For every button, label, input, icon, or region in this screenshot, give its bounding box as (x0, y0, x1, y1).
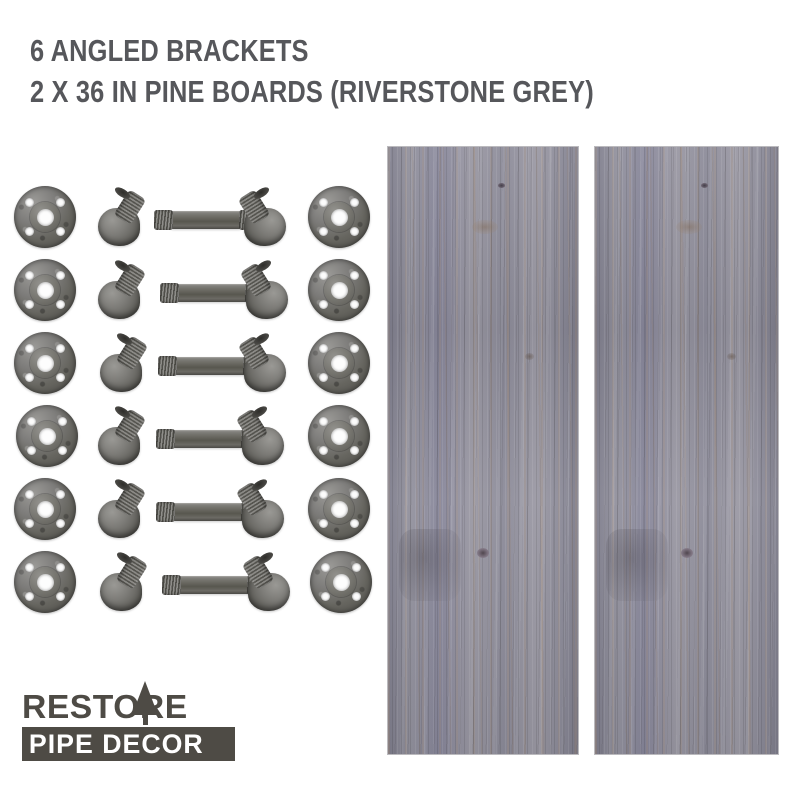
flange-bolt-hole (321, 563, 330, 572)
flange-part (308, 478, 370, 540)
flange-bolt-hole (56, 592, 65, 601)
flange-part (308, 259, 370, 321)
pine-tree-canopy (132, 681, 158, 715)
pine-tree-trunk (143, 712, 148, 725)
flange-part (14, 186, 76, 248)
nipple-thread-left (158, 356, 177, 376)
flange-bolt-hole (350, 446, 359, 455)
nipple-thread-left (156, 502, 175, 522)
flange-bore-hole (37, 574, 54, 591)
elbow-part-mirrored (232, 188, 294, 250)
logo-pipe-decor-text: PIPE DECOR (22, 727, 233, 761)
elbow-opening (256, 550, 275, 566)
flange-bolt-hole (321, 592, 330, 601)
flange-bolt-hole (25, 300, 34, 309)
headline-line-2: 2 X 36 IN PINE BOARDS (RIVERSTONE GREY) (30, 71, 637, 112)
flange-bolt-hole (25, 373, 34, 382)
flange-bolt-hole (58, 446, 67, 455)
elbow-part (90, 261, 152, 323)
bracket-row (14, 405, 370, 477)
flange-bolt-hole (350, 227, 359, 236)
wood-sheen (595, 147, 778, 754)
flange-bore-hole (37, 209, 54, 226)
flange-bolt-hole (319, 373, 328, 382)
flange-bolt-hole (25, 563, 34, 572)
flange-part (16, 405, 78, 467)
flange-bolt-hole (352, 563, 361, 572)
flange-bolt-hole (25, 198, 34, 207)
flange-part (14, 332, 76, 394)
elbow-part (90, 407, 152, 469)
wood-sheen (388, 147, 578, 754)
flange-bolt-hole (350, 344, 359, 353)
flange-bolt-hole (319, 198, 328, 207)
flange-bolt-hole (27, 446, 36, 455)
elbow-part-mirrored (232, 334, 294, 396)
bracket-row (14, 551, 370, 623)
elbow-opening (254, 258, 273, 274)
flange-bolt-hole (56, 490, 65, 499)
product-headline: 6 ANGLED BRACKETS 2 X 36 IN PINE BOARDS … (30, 30, 770, 112)
flange-bolt-hole (319, 300, 328, 309)
flange-bolt-hole (56, 519, 65, 528)
flange-bolt-hole (350, 373, 359, 382)
flange-part (310, 551, 372, 613)
flange-bolt-hole (25, 227, 34, 236)
flange-bolt-hole (56, 271, 65, 280)
elbow-part-mirrored (230, 407, 292, 469)
flange-bolt-hole (352, 592, 361, 601)
flange-bolt-hole (350, 490, 359, 499)
flange-bore-hole (37, 501, 54, 518)
flange-bolt-hole (27, 417, 36, 426)
logo-restore-wordmark: RESTORE (22, 690, 237, 726)
nipple-thread-left (154, 210, 173, 230)
elbow-part (90, 480, 152, 542)
flange-bolt-hole (319, 490, 328, 499)
elbow-opening (250, 404, 269, 420)
flange-bolt-hole (350, 198, 359, 207)
flange-bolt-hole (319, 271, 328, 280)
nipple-thread-left (156, 429, 175, 449)
bracket-row (14, 332, 370, 404)
flange-bore-hole (333, 574, 350, 591)
flange-part (14, 478, 76, 540)
flange-bore-hole (331, 282, 348, 299)
flange-bore-hole (37, 282, 54, 299)
logo-pipe-decor-bar: PIPE DECOR (22, 727, 235, 761)
pine-tree-icon (132, 681, 158, 725)
flange-bolt-hole (25, 344, 34, 353)
elbow-part-mirrored (234, 261, 296, 323)
flange-bolt-hole (56, 344, 65, 353)
flange-bolt-hole (25, 271, 34, 280)
flange-part (308, 332, 370, 394)
flange-bore-hole (331, 428, 348, 445)
flange-bolt-hole (319, 227, 328, 236)
bracket-row (14, 259, 370, 331)
flange-part (308, 405, 370, 467)
bracket-parts-grid (14, 186, 370, 616)
flange-bolt-hole (25, 490, 34, 499)
flange-bolt-hole (319, 446, 328, 455)
elbow-part (90, 188, 152, 250)
bracket-row (14, 478, 370, 550)
flange-bolt-hole (58, 417, 67, 426)
flange-part (308, 186, 370, 248)
elbow-part-mirrored (230, 480, 292, 542)
flange-bolt-hole (319, 417, 328, 426)
flange-bolt-hole (350, 417, 359, 426)
flange-bolt-hole (56, 563, 65, 572)
elbow-part (92, 334, 154, 396)
flange-bolt-hole (350, 519, 359, 528)
pine-board-1 (388, 147, 578, 754)
flange-bolt-hole (25, 519, 34, 528)
elbow-opening (252, 185, 271, 201)
flange-bolt-hole (56, 300, 65, 309)
flange-bore-hole (331, 501, 348, 518)
flange-bolt-hole (56, 373, 65, 382)
flange-bore-hole (331, 355, 348, 372)
pine-boards-group (388, 147, 778, 754)
flange-bolt-hole (319, 344, 328, 353)
flange-bore-hole (331, 209, 348, 226)
flange-bore-hole (37, 355, 54, 372)
flange-bolt-hole (56, 227, 65, 236)
flange-bore-hole (39, 428, 56, 445)
brand-logo: RESTORE PIPE DECOR (22, 690, 237, 762)
elbow-part-mirrored (236, 553, 298, 615)
nipple-thread-left (160, 283, 179, 303)
elbow-part (92, 553, 154, 615)
flange-bolt-hole (56, 198, 65, 207)
product-image-canvas: 6 ANGLED BRACKETS 2 X 36 IN PINE BOARDS … (0, 0, 800, 800)
elbow-opening (250, 477, 269, 493)
flange-bolt-hole (319, 519, 328, 528)
flange-bolt-hole (25, 592, 34, 601)
pine-board-2 (595, 147, 778, 754)
headline-line-1: 6 ANGLED BRACKETS (30, 30, 637, 71)
bracket-row (14, 186, 370, 258)
flange-bolt-hole (350, 271, 359, 280)
flange-bolt-hole (350, 300, 359, 309)
flange-part (14, 259, 76, 321)
flange-part (14, 551, 76, 613)
nipple-thread-left (162, 575, 181, 595)
elbow-opening (252, 331, 271, 347)
